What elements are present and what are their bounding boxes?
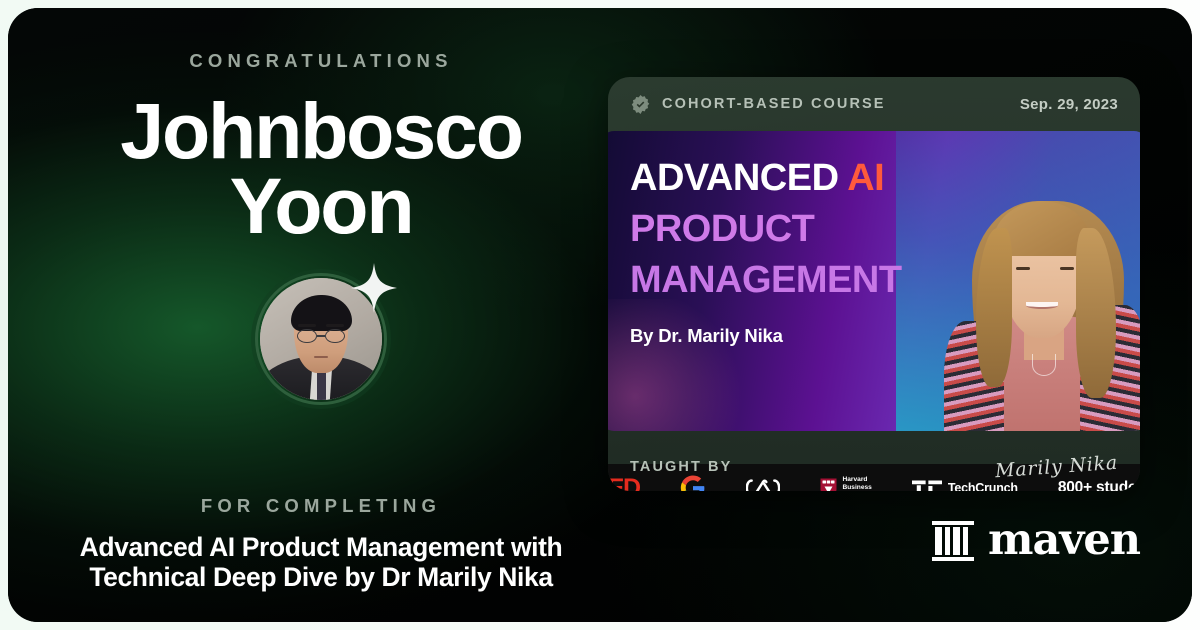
banner-line-3: MANAGEMENT xyxy=(630,261,960,300)
maven-logo[interactable]: maven xyxy=(932,519,1140,562)
for-completing-label: FOR COMPLETING xyxy=(28,497,614,516)
avatar xyxy=(255,273,387,405)
certificate-page: CONGRATULATIONS Johnbosco Yoon xyxy=(0,0,1200,630)
instructor-photo xyxy=(944,157,1140,431)
course-banner: ADVANCED AI PRODUCT MANAGEMENT By Dr. Ma… xyxy=(608,131,1140,431)
course-card-footer: TAUGHT BY Marily Nika xyxy=(608,443,1140,491)
course-card-header: COHORT-BASED COURSE Sep. 29, 2023 xyxy=(608,77,1140,131)
verified-badge-icon xyxy=(630,94,651,115)
maven-pillars-icon xyxy=(932,521,974,561)
banner-line-2: PRODUCT xyxy=(630,210,960,249)
cohort-based-course-label: COHORT-BASED COURSE xyxy=(662,96,886,112)
course-date: Sep. 29, 2023 xyxy=(1020,96,1118,113)
recipient-name: Johnbosco Yoon xyxy=(41,93,601,243)
recipient-panel: CONGRATULATIONS Johnbosco Yoon xyxy=(28,52,614,592)
course-title: Advanced AI Product Management with Tech… xyxy=(61,532,581,592)
instructor-signature: Marily Nika xyxy=(994,452,1118,483)
banner-text-block: ADVANCED AI PRODUCT MANAGEMENT By Dr. Ma… xyxy=(630,159,960,347)
taught-by-label: TAUGHT BY xyxy=(630,459,732,475)
course-completion-block: FOR COMPLETING Advanced AI Product Manag… xyxy=(28,497,614,592)
course-preview-card[interactable]: COHORT-BASED COURSE Sep. 29, 2023 xyxy=(608,77,1140,491)
banner-byline: By Dr. Marily Nika xyxy=(630,325,960,347)
maven-wordmark: maven xyxy=(988,519,1140,562)
banner-line-1: ADVANCED AI xyxy=(630,159,960,198)
banner-ai-text: AI xyxy=(847,157,884,199)
banner-advanced-text: ADVANCED xyxy=(630,157,839,199)
avatar-ring xyxy=(255,273,387,405)
congratulations-label: CONGRATULATIONS xyxy=(189,52,452,71)
certificate-card: CONGRATULATIONS Johnbosco Yoon xyxy=(8,8,1192,622)
